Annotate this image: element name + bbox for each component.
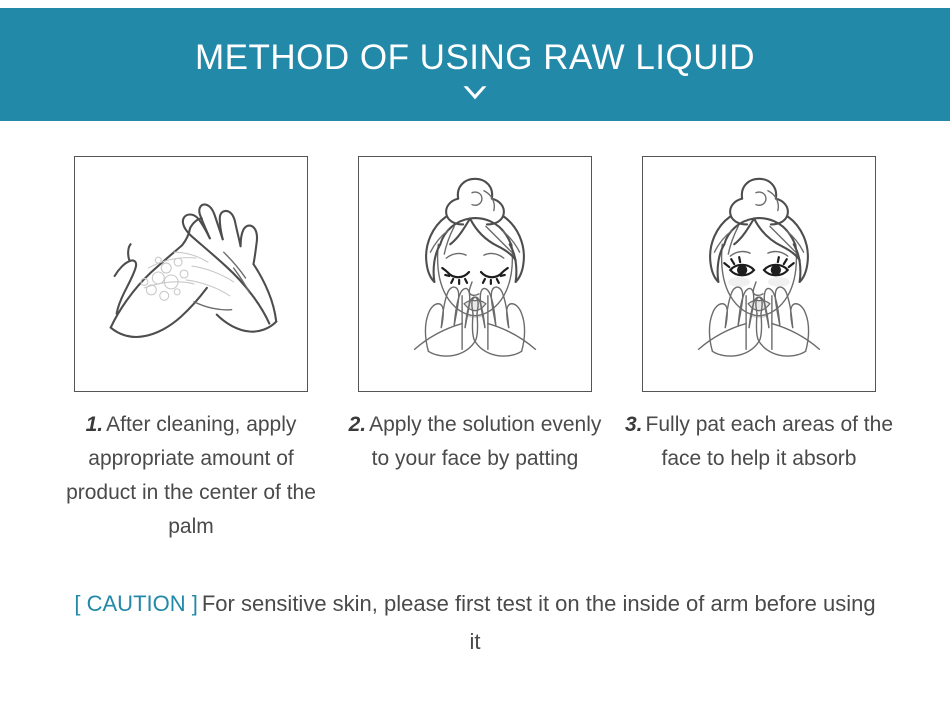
step-3-text: Fully pat each areas of the face to help… [646,413,893,470]
step-2: 2.Apply the solution evenly to your face… [357,121,593,544]
step-1-text: After cleaning, apply appropriate amount… [66,413,316,538]
steps-row: 1.After cleaning, apply appropriate amou… [0,121,950,544]
step-1: 1.After cleaning, apply appropriate amou… [73,121,309,544]
step-3: 3.Fully pat each areas of the face to he… [641,121,877,544]
header-band: METHOD OF USING RAW LIQUID [0,8,950,121]
step-3-number: 3. [625,413,643,436]
page-title: METHOD OF USING RAW LIQUID [195,38,755,78]
chevron-down-icon [462,85,488,101]
step-3-caption: 3.Fully pat each areas of the face to he… [625,408,893,476]
caution-block: [ CAUTION ]For sensitive skin, please fi… [0,585,950,661]
page-root: METHOD OF USING RAW LIQUID [0,0,950,709]
step-1-caption: 1.After cleaning, apply appropriate amou… [57,408,325,544]
caution-text: For sensitive skin, please first test it… [202,591,876,654]
caution-label: [ CAUTION ] [74,591,197,616]
step-1-number: 1. [86,413,104,436]
step-2-illustration [358,156,592,392]
top-white-strip [0,0,950,8]
step-2-caption: 2.Apply the solution evenly to your face… [341,408,609,476]
step-2-number: 2. [349,413,367,436]
step-2-text: Apply the solution evenly to your face b… [369,413,601,470]
step-1-illustration [74,156,308,392]
step-3-illustration [642,156,876,392]
